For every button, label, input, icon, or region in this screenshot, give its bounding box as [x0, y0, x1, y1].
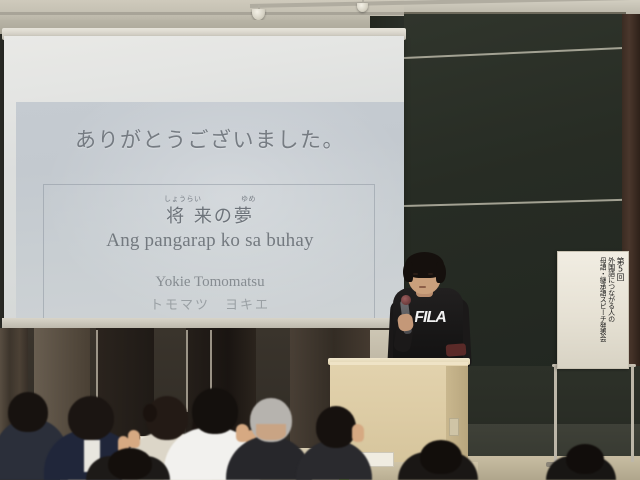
audience-face — [256, 424, 286, 440]
banner-line-1: 第5回 — [616, 257, 624, 363]
slide-presenter-name-jp: トモマツ ヨキエ — [16, 294, 404, 313]
audience-hair-bun — [143, 404, 157, 422]
event-banner: 第5回 外国語につながる人の 母語・継承語スピーチ発表会 — [557, 251, 629, 369]
slide-tagalog-title: Ang pangarap ko sa buhay — [16, 230, 404, 252]
audience-head — [108, 448, 152, 480]
projector-screen: ありがとうございました。 しょうらい ゆめ 将 来の夢 Ang pangarap… — [4, 36, 404, 324]
audience-head — [566, 444, 604, 474]
ceiling-rail — [0, 12, 420, 15]
slide-presenter-name-en: Yokie Tomomatsu — [16, 274, 404, 291]
projected-slide: ありがとうございました。 しょうらい ゆめ 将 来の夢 Ang pangarap… — [16, 102, 404, 348]
banner-line-3: 母語・継承語スピーチ発表会 — [599, 257, 606, 363]
audience-head — [420, 440, 462, 474]
speaker-hair-side — [403, 262, 413, 282]
speaker-sleeve-cuff — [446, 343, 467, 356]
speaker-hair-side — [436, 262, 446, 283]
audience-head — [316, 406, 356, 448]
lecture-hall-photo: ありがとうございました。 しょうらい ゆめ 将 来の夢 Ang pangarap… — [0, 0, 640, 480]
audience-hand-clapping — [352, 424, 364, 442]
audience-hand-clapping — [128, 430, 140, 448]
banner-line-2: 外国語につながる人の — [607, 257, 614, 363]
slide-thanks-text: ありがとうございました。 — [16, 124, 404, 154]
speaker-hand — [397, 313, 414, 332]
slide-japanese-title: 将 来の夢 — [16, 202, 404, 228]
audience-head — [192, 388, 238, 434]
audience-head — [68, 396, 114, 440]
audience-head — [8, 392, 48, 432]
banner-stand-leg — [631, 366, 634, 462]
curtain-pole — [186, 330, 188, 412]
projector-screen-bottom-bar — [2, 318, 406, 328]
speaker-eye — [413, 273, 418, 275]
speaker-mouth — [419, 286, 426, 288]
banner-stand-leg — [554, 366, 557, 466]
banner-text-columns: 第5回 外国語につながる人の 母語・継承語スピーチ発表会 — [562, 257, 624, 363]
speaker-eye — [428, 273, 433, 275]
podium-plate — [449, 418, 459, 436]
